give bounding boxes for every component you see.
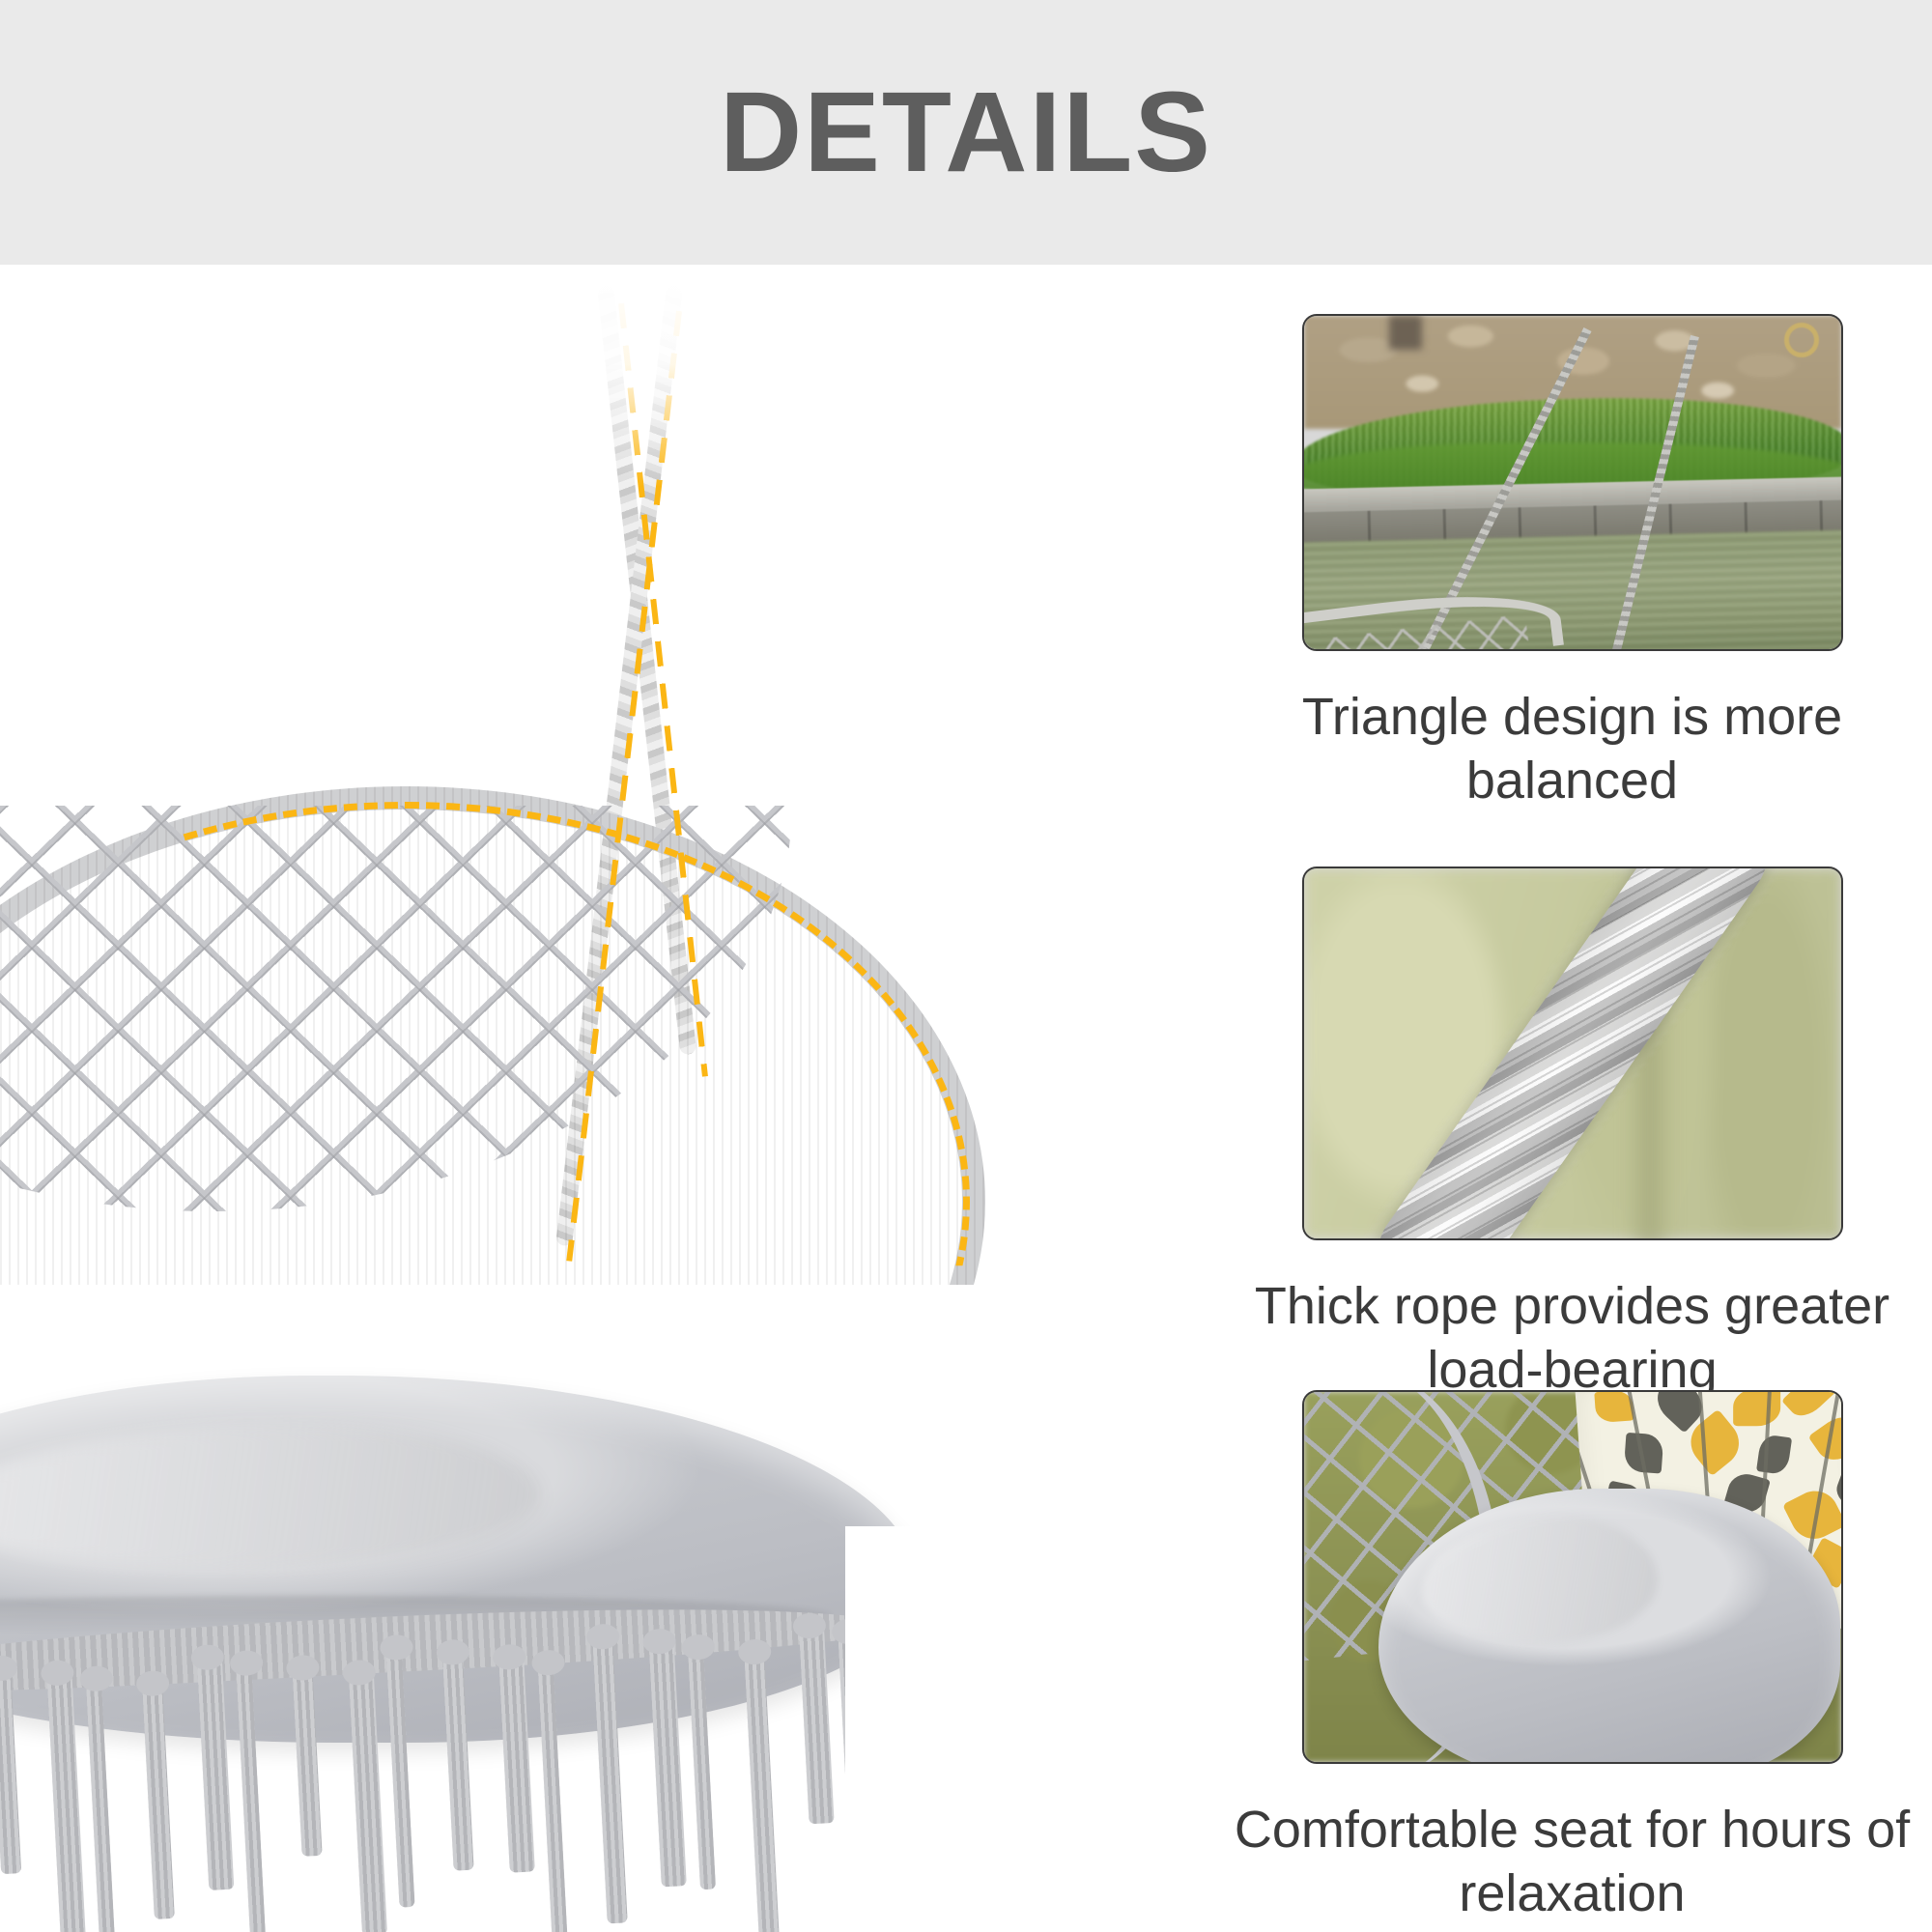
pillow-leaf-motif xyxy=(1756,1434,1792,1475)
detail-card-comfortable-seat: Comfortable seat for hours of relaxation xyxy=(1212,1390,1932,1926)
tassel xyxy=(688,1642,716,1889)
tassel xyxy=(799,1620,835,1824)
tassel-knot xyxy=(436,1639,469,1666)
detail-card-thick-rope: Thick rope provides greater load-bearing xyxy=(1212,867,1932,1403)
detail-caption-thick-rope: Thick rope provides greater load-bearing xyxy=(1235,1275,1911,1403)
hanging-ring-icon xyxy=(1784,323,1819,357)
tassel-knot xyxy=(738,1638,772,1665)
tassel xyxy=(498,1652,535,1873)
tassel-knot xyxy=(229,1650,263,1677)
tassel-knot xyxy=(79,1665,113,1692)
tassel-knot xyxy=(681,1634,715,1661)
tree-trunk xyxy=(1389,316,1421,350)
tassel xyxy=(236,1658,268,1932)
tassel xyxy=(46,1667,86,1932)
tassel xyxy=(537,1658,568,1932)
pillow-leaf-motif xyxy=(1780,1392,1836,1423)
tassel xyxy=(86,1674,116,1932)
detail-card-triangle-design: Triangle design is more balanced xyxy=(1212,314,1932,813)
tassel xyxy=(442,1647,474,1871)
tassel-knot xyxy=(286,1655,320,1682)
pillow-leaf-motif xyxy=(1733,1392,1780,1426)
product-detail-page: DETAILS xyxy=(0,0,1932,1932)
tassel-knot xyxy=(380,1634,413,1662)
page-header: DETAILS xyxy=(0,0,1932,265)
tassel-knot xyxy=(135,1670,169,1697)
detail-caption-triangle-design: Triangle design is more balanced xyxy=(1235,686,1911,813)
tassel xyxy=(385,1642,414,1907)
tassel xyxy=(292,1662,322,1857)
detail-photo-comfortable-seat xyxy=(1302,1390,1843,1764)
tassel xyxy=(0,1662,21,1874)
hero-product-photo xyxy=(0,265,1212,1932)
tassel-knot xyxy=(531,1649,565,1676)
tassel xyxy=(197,1652,235,1890)
tassel xyxy=(142,1678,175,1919)
detail-photo-triangle-design xyxy=(1302,314,1843,651)
tassel xyxy=(349,1667,387,1932)
detail-cards-column: Triangle design is more balanced Thick r… xyxy=(1212,265,1932,1932)
detail-photo-thick-rope xyxy=(1302,867,1843,1240)
photo-scene-cushion-pillow xyxy=(1304,1392,1841,1762)
tassel xyxy=(648,1635,687,1887)
detail-caption-comfortable-seat: Comfortable seat for hours of relaxation xyxy=(1235,1799,1911,1926)
page-title: DETAILS xyxy=(720,75,1212,189)
photo-scene-pond-ropes xyxy=(1304,316,1841,649)
pillow-leaf-motif xyxy=(1594,1392,1634,1423)
hero-illustration xyxy=(0,265,1212,1932)
hero-background-mask xyxy=(845,1526,1212,1932)
tassel xyxy=(592,1632,628,1924)
tassel xyxy=(744,1647,781,1932)
photo-scene-rope-macro xyxy=(1304,868,1841,1238)
tassel-fringe xyxy=(0,1617,912,1932)
tassel-knot xyxy=(586,1623,620,1650)
